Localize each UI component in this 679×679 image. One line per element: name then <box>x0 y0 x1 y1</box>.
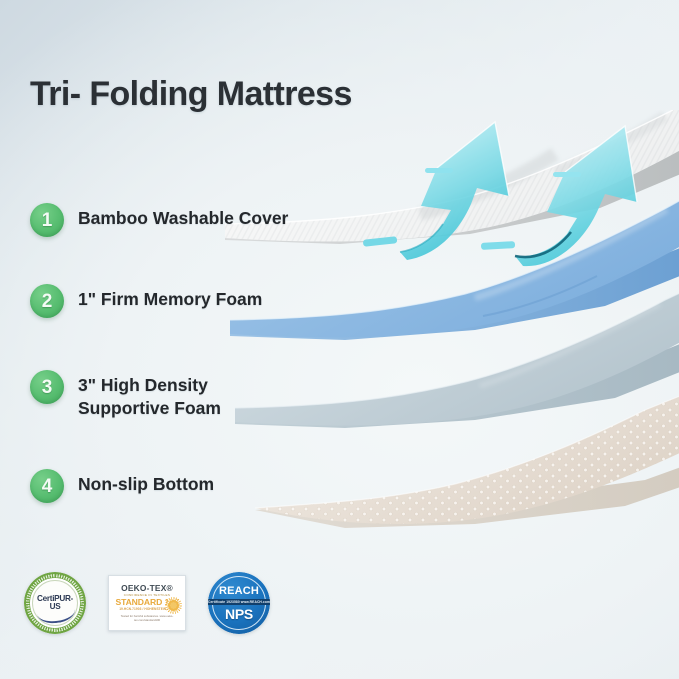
feature-label-3: 3" High Density Supportive Foam <box>78 370 221 420</box>
feature-number-badge-3: 3 <box>30 370 64 404</box>
page-title: Tri- Folding Mattress <box>30 75 352 114</box>
feature-label-2: 1" Firm Memory Foam <box>78 284 262 311</box>
oeko-tex-sun-icon <box>168 600 179 611</box>
mattress-layers-illustration <box>225 110 679 550</box>
reach-label: REACH <box>219 586 259 597</box>
feature-number-4: 4 <box>42 477 53 496</box>
feature-number-1: 1 <box>42 211 53 230</box>
feature-number-badge-1: 1 <box>30 203 64 237</box>
reach-band-label: Certificate 1923580 www.REACH.com <box>208 599 270 605</box>
feature-label-4: Non-slip Bottom <box>78 469 214 496</box>
nps-label: NPS <box>225 607 253 621</box>
reach-content: REACH Certificate 1923580 www.REACH.com … <box>208 572 270 634</box>
feature-item-4: 4 Non-slip Bottom <box>30 469 214 503</box>
feature-number-badge-2: 2 <box>30 284 64 318</box>
feature-number-2: 2 <box>42 292 53 311</box>
oeko-tex-footnote: Tested for harmful substances. www.oeko-… <box>109 614 185 622</box>
certipur-wordmark: CertiPUR-US <box>33 595 77 611</box>
certipur-us-badge-icon: CertiPUR-US <box>24 572 86 634</box>
oeko-tex-subtitle: CONFIDENCE IN TEXTILES <box>124 594 170 597</box>
infographic-canvas: Tri- Folding Mattress <box>0 0 679 679</box>
certification-badges: CertiPUR-US OEKO-TEX® CONFIDENCE IN TEXT… <box>24 572 270 634</box>
feature-item-2: 2 1" Firm Memory Foam <box>30 284 262 318</box>
feature-number-badge-4: 4 <box>30 469 64 503</box>
feature-label-1: Bamboo Washable Cover <box>78 203 288 230</box>
reach-nps-badge-icon: REACH Certificate 1923580 www.REACH.com … <box>208 572 270 634</box>
oeko-tex-brand: OEKO-TEX® <box>121 584 173 592</box>
oeko-tex-badge-icon: OEKO-TEX® CONFIDENCE IN TEXTILES STANDAR… <box>108 575 186 631</box>
feature-item-1: 1 Bamboo Washable Cover <box>30 203 288 237</box>
feature-number-3: 3 <box>42 378 53 397</box>
feature-item-3: 3 3" High Density Supportive Foam <box>30 370 221 420</box>
